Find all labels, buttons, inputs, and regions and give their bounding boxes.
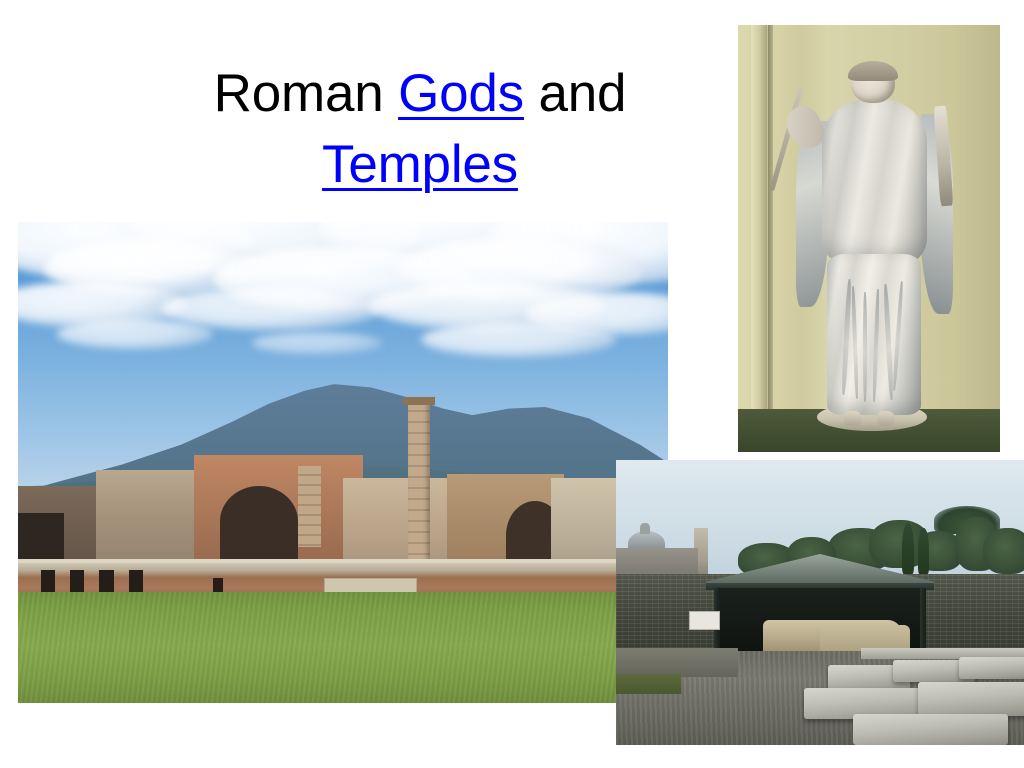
image-roman-goddess-marble-statue[interactable] xyxy=(738,25,1000,452)
tree xyxy=(983,528,1024,574)
cypress-tree xyxy=(902,523,914,574)
stone-steps xyxy=(616,648,738,677)
title-link-temples[interactable]: Temples xyxy=(322,135,518,194)
broken-column xyxy=(298,466,321,547)
limestone-block xyxy=(959,657,1024,680)
drapery-fold xyxy=(851,286,859,399)
cloud xyxy=(421,322,616,357)
title-line-2: Temples xyxy=(150,129,690,200)
draped-skirt xyxy=(827,254,921,415)
wall-groove xyxy=(768,25,773,435)
forum-lawn xyxy=(18,592,668,703)
limestone-block xyxy=(853,714,1008,745)
page-title: Roman Gods and Temples xyxy=(150,58,690,200)
wall-pilaster xyxy=(751,25,767,435)
standing-column xyxy=(408,401,430,566)
draped-torso xyxy=(822,99,927,264)
drapery-fold xyxy=(882,284,893,400)
cypress-tree xyxy=(918,528,929,574)
image-pompeii-forum-vesuvius[interactable] xyxy=(18,222,668,703)
statue-hair xyxy=(848,61,898,80)
image-excavated-temple-canopy[interactable] xyxy=(616,460,1024,745)
drapery-fold xyxy=(863,292,867,402)
slide-canvas: Roman Gods and Temples xyxy=(0,0,1024,768)
statue-foot xyxy=(844,411,861,425)
drapery-fold xyxy=(892,281,903,391)
grass-patch xyxy=(616,674,681,694)
drapery-fold xyxy=(872,289,880,402)
dome-lantern xyxy=(640,523,650,534)
title-link-gods[interactable]: Gods xyxy=(398,64,524,123)
title-text-and: and xyxy=(524,64,626,123)
cloud xyxy=(252,332,382,354)
column-capital xyxy=(403,397,436,405)
canopy-post xyxy=(920,588,927,656)
limestone-block xyxy=(918,682,1024,716)
title-text-roman: Roman xyxy=(214,64,398,123)
site-information-sign xyxy=(689,611,720,630)
goddess-figure xyxy=(809,63,940,422)
statue-foot xyxy=(877,411,894,425)
title-line-1: Roman Gods and xyxy=(150,58,690,129)
drapery-fold xyxy=(841,279,852,395)
cloud xyxy=(57,319,213,349)
